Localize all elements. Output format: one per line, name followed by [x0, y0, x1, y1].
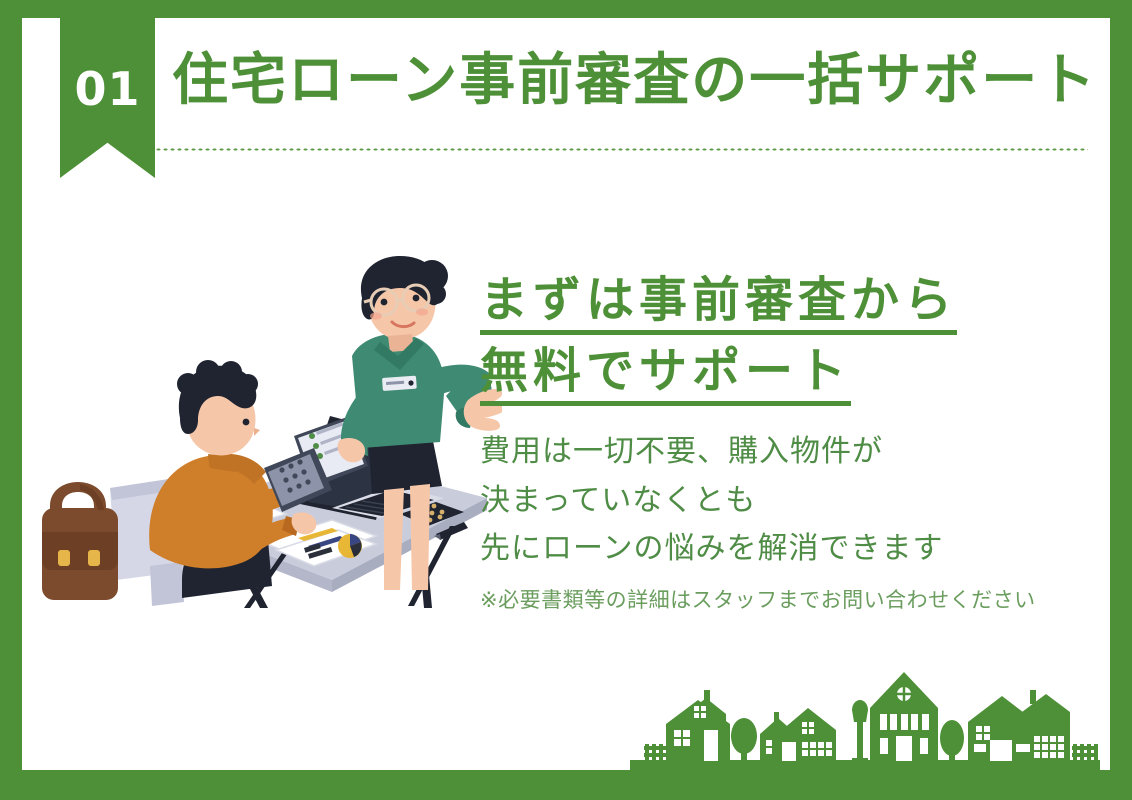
- main-text-column: まずは事前審査から 無料でサポート 費用は一切不要、購入物件が 決まっていなくと…: [480, 276, 1100, 614]
- headline-line-1: まずは事前審査から: [480, 276, 957, 335]
- footnote: ※必要書類等の詳細はスタッフまでお問い合わせください: [480, 584, 1100, 614]
- header-divider: [134, 148, 1088, 151]
- headline: まずは事前審査から 無料でサポート: [480, 276, 1100, 406]
- headline-line-2: 無料でサポート: [480, 347, 851, 406]
- section-number: 01: [60, 66, 155, 112]
- slide-root: 01 住宅ローン事前審査の一括サポート: [0, 0, 1132, 800]
- houses-silhouette: [630, 660, 1100, 770]
- body-copy: 費用は一切不要、購入物件が 決まっていなくとも 先にローンの悩みを解消できます: [480, 428, 1100, 574]
- page-title: 住宅ローン事前審査の一括サポート: [172, 50, 1097, 112]
- consultation-illustration: [32, 250, 502, 610]
- section-number-ribbon: 01: [60, 18, 155, 178]
- body-line-2: 決まっていなくとも: [480, 477, 1100, 526]
- slide-canvas: 01 住宅ローン事前審査の一括サポート: [22, 18, 1110, 770]
- body-line-3: 先にローンの悩みを解消できます: [480, 525, 1100, 574]
- body-line-1: 費用は一切不要、購入物件が: [480, 428, 1100, 477]
- fence-right: [1072, 744, 1098, 762]
